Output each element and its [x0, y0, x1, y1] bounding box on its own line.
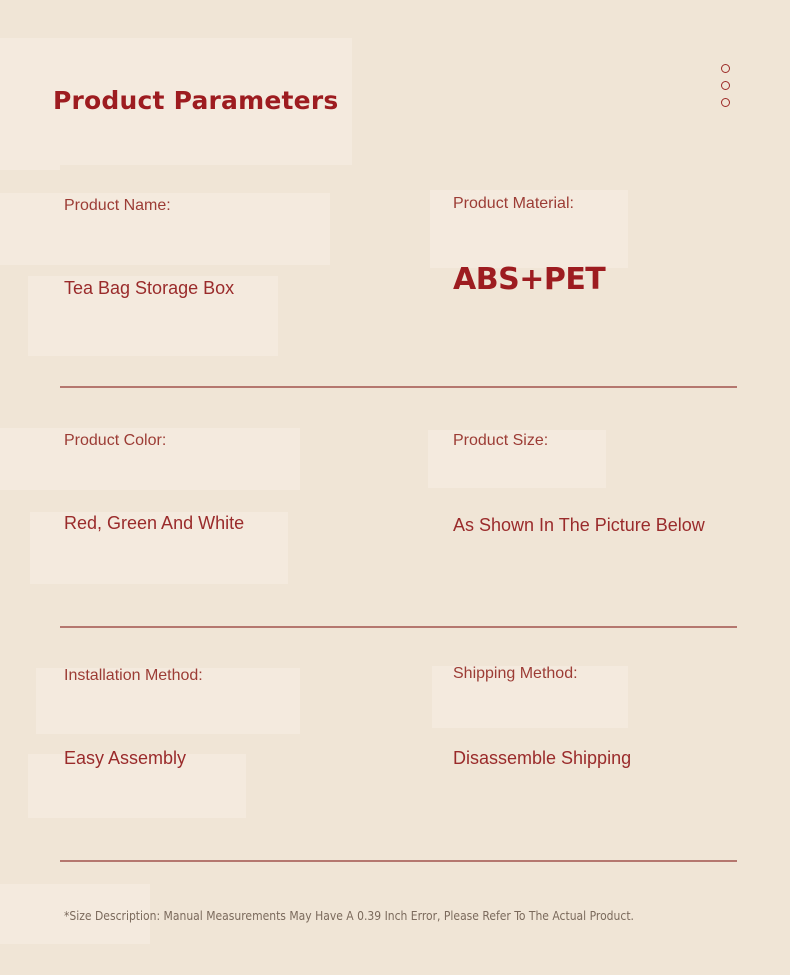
- parameter-value: ABS+PET: [453, 268, 790, 292]
- parameter-label: Product Material:: [453, 194, 790, 214]
- parameter-value: Disassemble Shipping: [453, 746, 790, 770]
- parameter-row: Product Name: Tea Bag Storage Box Produc…: [0, 196, 790, 300]
- background-block: [0, 140, 60, 170]
- parameter-row: Product Color: Red, Green And White Prod…: [0, 431, 790, 535]
- parameter-cell-product-size: Product Size: As Shown In The Picture Be…: [0, 431, 790, 535]
- parameter-label: Product Size:: [453, 431, 790, 451]
- section-divider: [60, 386, 737, 388]
- parameter-row: Installation Method: Easy Assembly Shipp…: [0, 666, 790, 770]
- decorative-dots: [721, 64, 730, 107]
- parameter-label: Shipping Method:: [453, 664, 790, 684]
- section-divider: [60, 626, 737, 628]
- size-disclaimer-note: *Size Description: Manual Measurements M…: [64, 908, 634, 923]
- section-divider: [60, 860, 737, 862]
- circle-outline-icon: [721, 81, 730, 90]
- parameter-value: As Shown In The Picture Below: [453, 513, 790, 537]
- circle-outline-icon: [721, 64, 730, 73]
- parameter-cell-product-material: Product Material: ABS+PET: [0, 196, 790, 292]
- product-parameters-page: Product Parameters Product Name: Tea Bag…: [0, 0, 790, 975]
- circle-outline-icon: [721, 98, 730, 107]
- page-title: Product Parameters: [53, 86, 338, 115]
- parameter-cell-shipping-method: Shipping Method: Disassemble Shipping: [0, 666, 790, 770]
